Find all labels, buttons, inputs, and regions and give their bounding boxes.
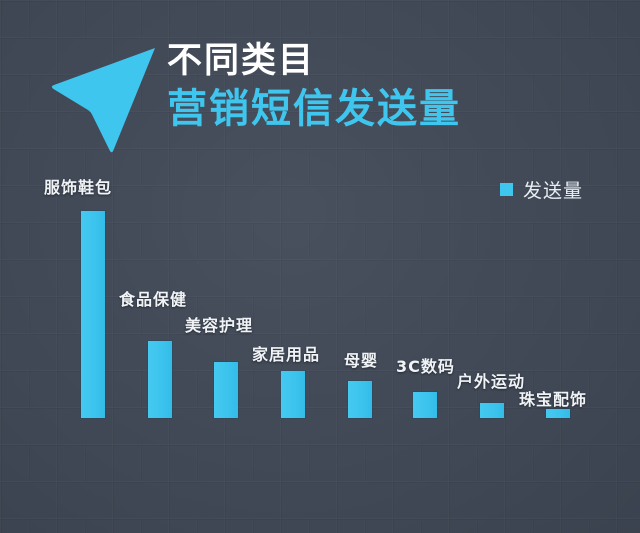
infographic-canvas: 不同类目 营销短信发送量 发送量 服饰鞋包食品保健美容护理家居用品母婴3C数码户…	[0, 0, 640, 533]
bar-label-3: 美容护理	[185, 312, 253, 336]
bar-chart: 服饰鞋包食品保健美容护理家居用品母婴3C数码户外运动珠宝配饰	[0, 0, 640, 533]
bar-label-7: 户外运动	[457, 368, 525, 392]
bar-label-5: 母婴	[344, 347, 378, 371]
bar-label-1: 服饰鞋包	[44, 174, 112, 198]
bar-3	[214, 362, 238, 418]
bar-6	[413, 392, 437, 418]
bar-1	[81, 211, 105, 418]
bar-label-4: 家居用品	[252, 341, 320, 365]
bar-label-2: 食品保健	[119, 286, 187, 310]
bar-label-6: 3C数码	[396, 353, 455, 377]
bar-2	[148, 341, 172, 418]
bar-5	[348, 381, 372, 418]
bar-4	[281, 371, 305, 418]
bar-7	[480, 403, 504, 418]
bar-label-8: 珠宝配饰	[519, 386, 587, 410]
bar-8	[546, 409, 570, 418]
